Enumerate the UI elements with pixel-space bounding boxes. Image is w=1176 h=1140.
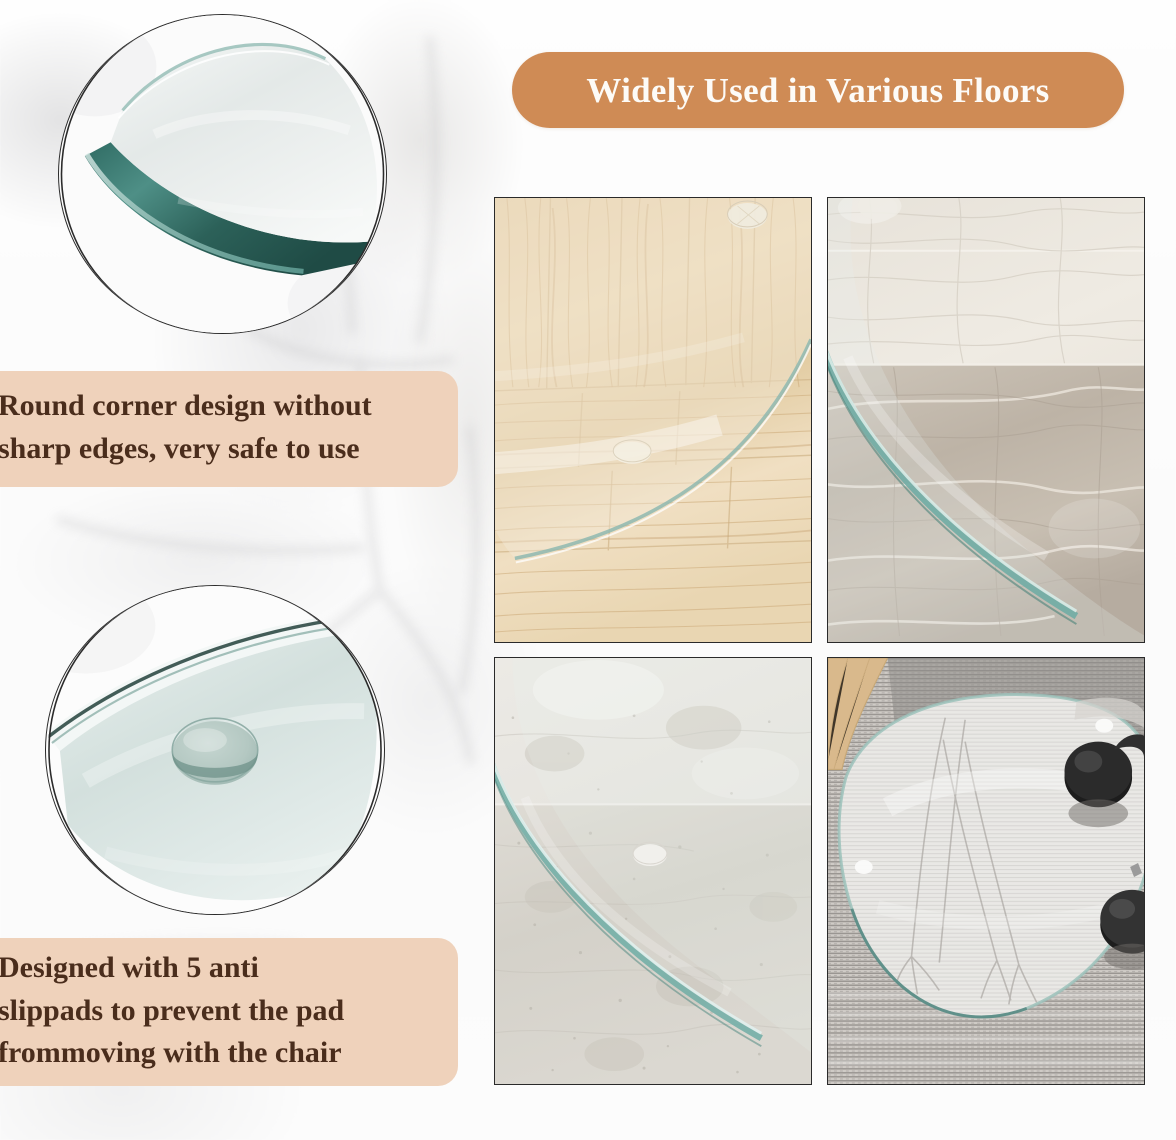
header-banner: Widely Used in Various Floors bbox=[512, 52, 1124, 128]
photo-marble-floor: Round glass chair mat on polished beige … bbox=[827, 197, 1145, 643]
anti-slip-pads-callout: Designed with 5 anti slippads to prevent… bbox=[0, 938, 458, 1086]
header-banner-title: Widely Used in Various Floors bbox=[586, 73, 1049, 108]
photo-carpet-floor: Round glass chair mat laid over a patter… bbox=[827, 657, 1145, 1085]
callout-line: Round corner design without bbox=[0, 385, 432, 428]
product-infographic-page: Widely Used in Various Floors bbox=[0, 0, 1176, 1140]
glass-edge-closeup-circle: Close-up of the polished round glass mat… bbox=[58, 14, 387, 334]
photo-caption: Round glass chair mat on polished beige … bbox=[828, 642, 829, 643]
callout-line: sharp edges, very safe to use bbox=[0, 428, 432, 471]
callout-line: Designed with 5 anti bbox=[0, 947, 432, 990]
anti-slip-pad-closeup-circle: Close-up of the underside of the glass m… bbox=[45, 585, 385, 915]
callout-line: slippads to prevent the pad bbox=[0, 990, 432, 1033]
glass-edge-closeup-caption: Close-up of the polished round glass mat… bbox=[59, 333, 60, 334]
round-corner-callout: Round corner design without sharp edges,… bbox=[0, 371, 458, 487]
callout-line: frommoving with the chair bbox=[0, 1032, 432, 1075]
floor-photo-grid: Round glass chair mat resting on light n… bbox=[494, 197, 1145, 1085]
photo-wood-floor: Round glass chair mat resting on light n… bbox=[494, 197, 812, 643]
photo-caption: Round glass chair mat laid over a patter… bbox=[828, 1084, 829, 1085]
photo-caption: Round glass chair mat on pale grey speck… bbox=[495, 1084, 496, 1085]
anti-slip-pad-closeup-caption: Close-up of the underside of the glass m… bbox=[46, 914, 47, 915]
photo-caption: Round glass chair mat resting on light n… bbox=[495, 642, 496, 643]
photo-concrete-floor: Round glass chair mat on pale grey speck… bbox=[494, 657, 812, 1085]
